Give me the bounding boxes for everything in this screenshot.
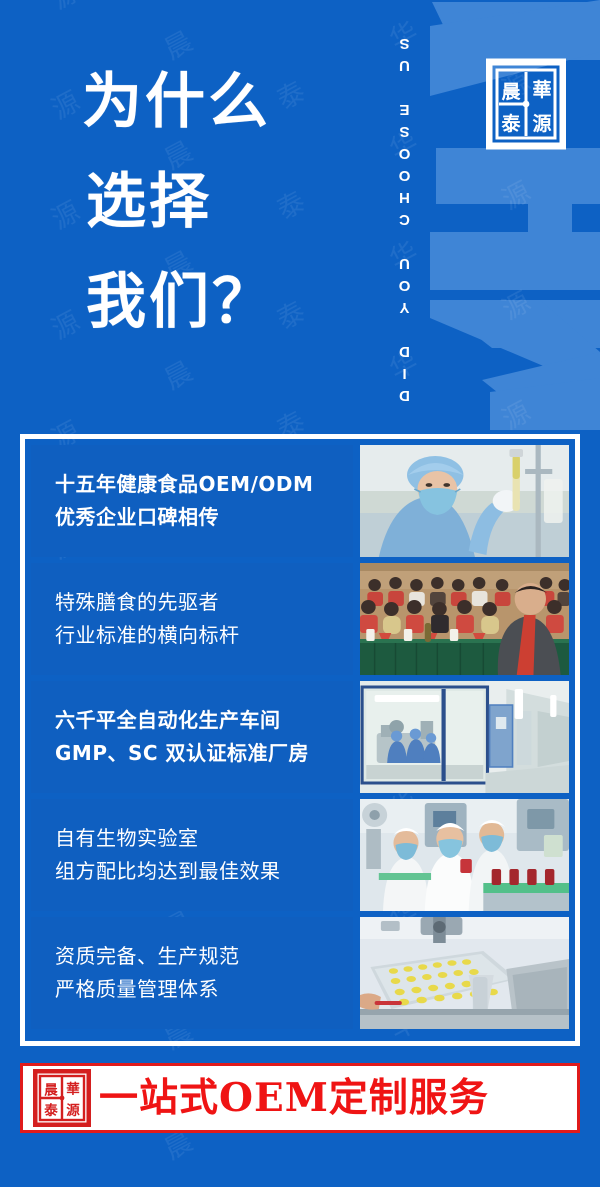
headline-line-1: 为什么 — [82, 52, 382, 152]
feature-card: 资质完备、生产规范 严格质量管理体系 — [31, 917, 569, 1029]
conference-audience-photo — [360, 563, 569, 675]
poster-root: 华 源 晨 泰 华 源 晨 泰 华 源 晨 泰 华 源 晨 泰 华 源 晨 泰 … — [0, 0, 600, 1187]
feature-card-text: 资质完备、生产规范 严格质量管理体系 — [31, 917, 353, 1029]
feature-line: 六千平全自动化生产车间 — [55, 704, 353, 737]
feature-line: 组方配比均达到最佳效果 — [55, 855, 353, 888]
tablet-packaging-machine-photo — [360, 917, 569, 1029]
feature-line: 优秀企业口碑相传 — [55, 501, 353, 534]
feature-card-text: 十五年健康食品OEM/ODM 优秀企业口碑相传 — [31, 445, 353, 557]
vertical-english-subtitle: DID YOU CHOOSE US — [396, 14, 422, 404]
feature-card: 自有生物实验室 组方配比均达到最佳效果 — [31, 799, 569, 911]
svg-text:泰: 泰 — [500, 112, 521, 135]
poster-header: 为什么 选择 我们？ DID YOU CHOOSE US 晨 泰 華 源 — [0, 0, 600, 430]
cta-banner-text: 一站式OEM定制服务 — [99, 1079, 489, 1118]
svg-text:華: 華 — [532, 78, 551, 101]
feature-line: 十五年健康食品OEM/ODM — [55, 468, 353, 501]
svg-text:源: 源 — [66, 1102, 80, 1119]
feature-line: 严格质量管理体系 — [55, 973, 353, 1006]
feature-card-text: 自有生物实验室 组方配比均达到最佳效果 — [31, 799, 353, 911]
svg-text:晨: 晨 — [501, 81, 521, 103]
svg-text:泰: 泰 — [43, 1102, 58, 1119]
page-title: 为什么 选择 我们？ — [82, 52, 382, 352]
svg-text:源: 源 — [532, 112, 551, 135]
feature-line: GMP、SC 双认证标准厂房 — [55, 737, 353, 770]
production-line-staff-photo — [360, 799, 569, 911]
feature-card: 六千平全自动化生产车间 GMP、SC 双认证标准厂房 — [31, 681, 569, 793]
feature-card: 特殊膳食的先驱者 行业标准的横向标杆 — [31, 563, 569, 675]
brand-seal-white-icon: 晨 泰 華 源 — [486, 58, 566, 150]
feature-card-list: 十五年健康食品OEM/ODM 优秀企业口碑相传 — [20, 434, 580, 1046]
feature-card: 十五年健康食品OEM/ODM 优秀企业口碑相传 — [31, 445, 569, 557]
feature-line: 资质完备、生产规范 — [55, 940, 353, 973]
feature-line: 行业标准的横向标杆 — [55, 619, 353, 652]
feature-line: 特殊膳食的先驱者 — [55, 586, 353, 619]
lab-technician-pipette-photo — [360, 445, 569, 557]
feature-line: 自有生物实验室 — [55, 822, 353, 855]
svg-text:晨: 晨 — [44, 1083, 58, 1099]
headline-line-2: 选择 — [82, 152, 382, 252]
feature-card-text: 特殊膳食的先驱者 行业标准的横向标杆 — [31, 563, 353, 675]
headline-line-3: 我们？ — [82, 252, 382, 352]
clean-room-corridor-photo — [360, 681, 569, 793]
brand-seal-red-icon: 晨 泰 華 源 — [33, 1069, 91, 1127]
cta-banner[interactable]: 晨 泰 華 源 一站式OEM定制服务 — [20, 1063, 580, 1133]
svg-text:華: 華 — [66, 1081, 80, 1098]
feature-card-text: 六千平全自动化生产车间 GMP、SC 双认证标准厂房 — [31, 681, 353, 793]
